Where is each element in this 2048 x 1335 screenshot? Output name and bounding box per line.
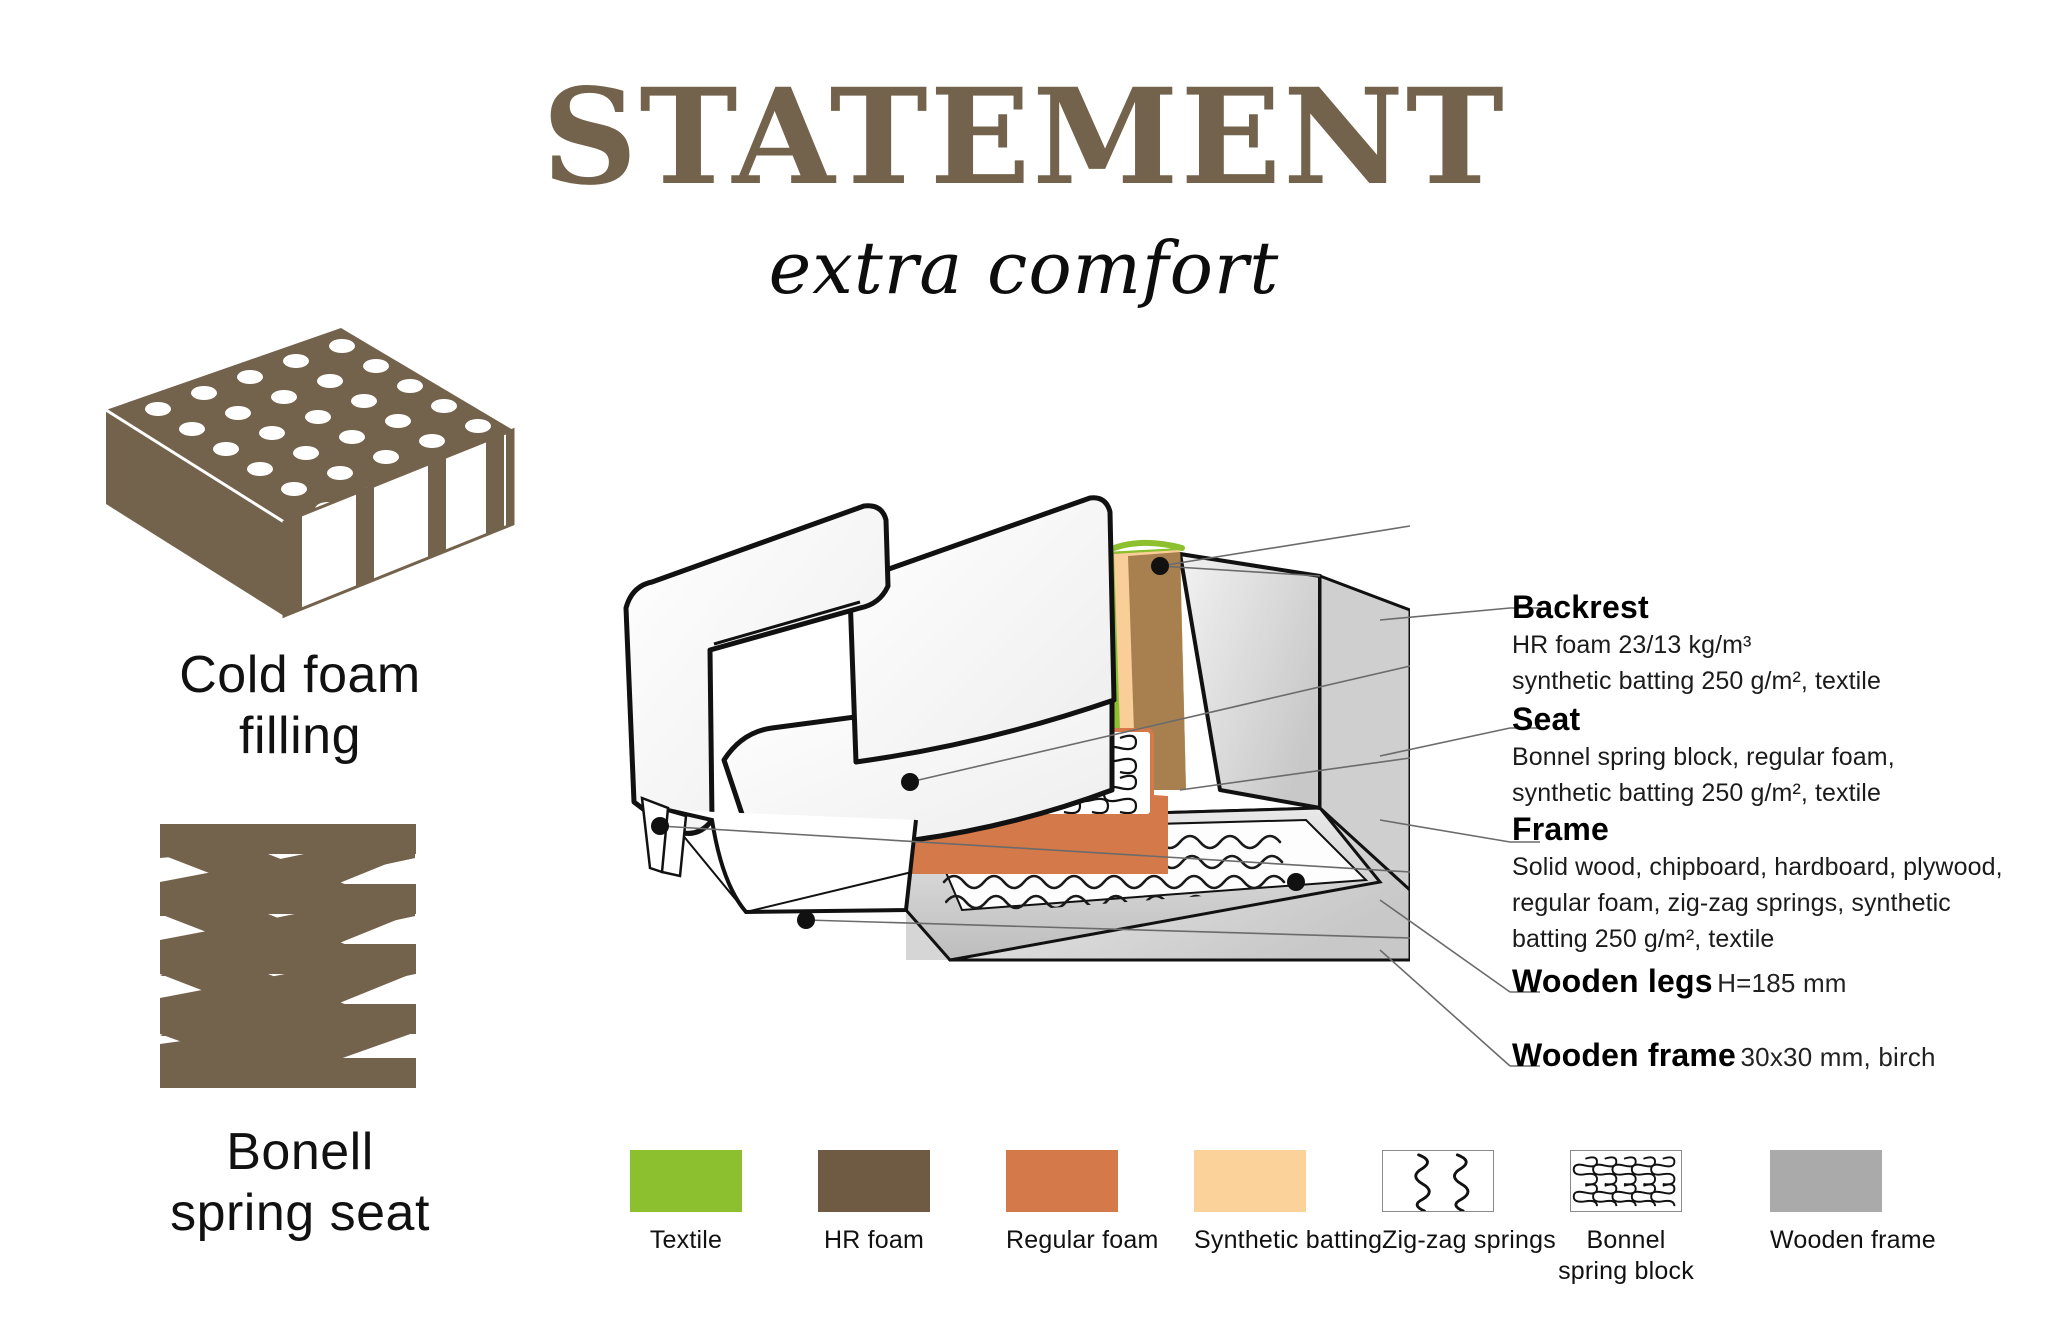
callout-frame-line-3: batting 250 g/m², textile	[1512, 923, 2003, 956]
legend-swatch-zigzag-springs	[1382, 1150, 1494, 1212]
zigzag-spring-illustration	[140, 800, 440, 1090]
callout-seat-title: Seat	[1512, 701, 1580, 737]
legend-label-zigzag-springs: Zig-zag springs	[1382, 1225, 1494, 1256]
callout-seat: Seat Bonnel spring block, regular foam, …	[1512, 702, 1895, 810]
legend-label-regular-foam: Regular foam	[1006, 1225, 1118, 1256]
bonell-caption-line1: Bonell	[20, 1122, 580, 1183]
legend-item-bonnel-spring-block: Bonnel spring block	[1570, 1150, 1682, 1286]
callout-wooden-frame: Wooden frame 30x30 mm, birch	[1512, 1038, 1936, 1074]
callout-backrest-line-1: HR foam 23/13 kg/m³	[1512, 629, 1881, 662]
callout-wooden-legs: Wooden legs H=185 mm	[1512, 964, 1847, 1000]
sofa-cutaway-illustration	[620, 490, 1410, 1020]
cold-foam-block-illustration	[88, 322, 518, 634]
callout-seat-line-1: Bonnel spring block, regular foam,	[1512, 741, 1895, 774]
callout-seat-line-2: synthetic batting 250 g/m², textile	[1512, 777, 1895, 810]
legend-label-synthetic-batting: Synthetic batting	[1194, 1225, 1306, 1256]
legend-label-bonnel-line2: spring block	[1551, 1256, 1701, 1287]
legend-item-zigzag-springs: Zig-zag springs	[1382, 1150, 1494, 1256]
callout-wooden-frame-title: Wooden frame	[1512, 1037, 1736, 1073]
page-subtitle: extra comfort	[0, 232, 2048, 304]
callout-frame-line-1: Solid wood, chipboard, hardboard, plywoo…	[1512, 851, 2003, 884]
legend-item-textile: Textile	[630, 1150, 742, 1256]
legend-item-regular-foam: Regular foam	[1006, 1150, 1118, 1256]
material-legend: Textile HR foam Regular foam Synthetic b…	[630, 1150, 1990, 1310]
callout-frame: Frame Solid wood, chipboard, hardboard, …	[1512, 812, 2003, 957]
callout-wooden-frame-spec: 30x30 mm, birch	[1741, 1042, 1936, 1072]
legend-swatch-hr-foam	[818, 1150, 930, 1212]
callout-backrest-title: Backrest	[1512, 589, 1649, 625]
callout-wooden-legs-spec: H=185 mm	[1717, 968, 1846, 998]
page-title: STATEMENT	[0, 72, 2048, 204]
callout-wooden-legs-title: Wooden legs	[1512, 963, 1713, 999]
legend-swatch-textile	[630, 1150, 742, 1212]
legend-label-bonnel-line1: Bonnel	[1551, 1225, 1701, 1256]
legend-label-textile: Textile	[630, 1225, 742, 1256]
legend-item-synthetic-batting: Synthetic batting	[1194, 1150, 1306, 1256]
callout-backrest: Backrest HR foam 23/13 kg/m³ synthetic b…	[1512, 590, 1881, 698]
legend-label-wooden-frame: Wooden frame	[1770, 1225, 1882, 1256]
legend-label-hr-foam: HR foam	[818, 1225, 930, 1256]
cold-foam-caption: Cold foam filling	[40, 645, 560, 767]
bonell-caption-line2: spring seat	[20, 1183, 580, 1244]
callout-frame-line-2: regular foam, zig-zag springs, synthetic	[1512, 887, 2003, 920]
legend-swatch-bonnel-spring-block	[1570, 1150, 1682, 1212]
legend-item-wooden-frame: Wooden frame	[1770, 1150, 1882, 1256]
legend-swatch-synthetic-batting	[1194, 1150, 1306, 1212]
legend-item-hr-foam: HR foam	[818, 1150, 930, 1256]
legend-swatch-wooden-frame	[1770, 1150, 1882, 1212]
cold-foam-caption-line1: Cold foam	[40, 645, 560, 706]
legend-swatch-regular-foam	[1006, 1150, 1118, 1212]
bonell-spring-caption: Bonell spring seat	[20, 1122, 580, 1244]
legend-label-bonnel-spring-block: Bonnel spring block	[1551, 1225, 1701, 1286]
callout-frame-title: Frame	[1512, 811, 1609, 847]
callout-backrest-line-2: synthetic batting 250 g/m², textile	[1512, 665, 1881, 698]
cold-foam-caption-line2: filling	[40, 706, 560, 767]
